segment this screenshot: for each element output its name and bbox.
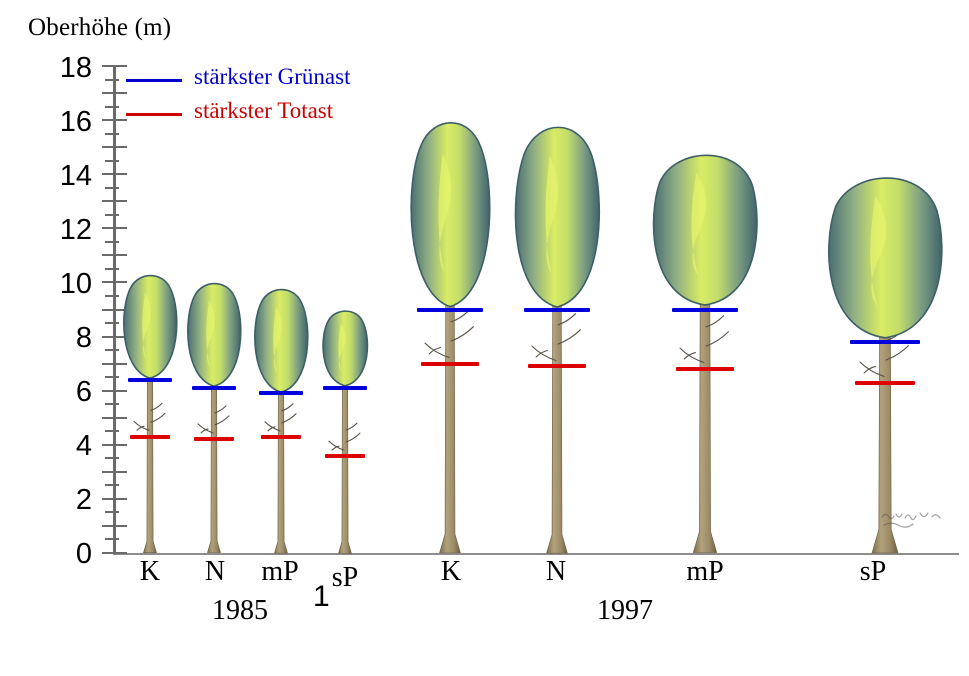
tree-crown <box>654 156 757 306</box>
y-axis-title: Oberhöhe (m) <box>28 14 171 42</box>
dead-branch-marker <box>194 437 234 441</box>
group-label-1985: 1985 <box>185 595 295 627</box>
dead-branch-marker <box>261 435 301 439</box>
legend-label-gruenast: stärkster Grünast <box>194 64 351 90</box>
tree-crown <box>124 276 177 379</box>
dead-branch-marker <box>528 364 586 368</box>
green-branch-marker <box>672 308 738 312</box>
tree-N-1997 <box>499 123 615 553</box>
tree-crown <box>411 123 490 307</box>
y-tick-label-6: 6 <box>30 378 92 407</box>
legend-label-totast: stärkster Totast <box>194 98 333 124</box>
green-branch-marker <box>323 386 367 390</box>
green-branch-marker <box>850 340 920 344</box>
y-tick-label-18: 18 <box>30 54 92 83</box>
legend-swatch-blue <box>126 79 182 82</box>
tree-mP-1997 <box>639 144 771 553</box>
tree-K-1997 <box>392 120 508 553</box>
dead-branch-marker <box>676 367 734 371</box>
x-tick-label-1985-mp: mP <box>247 556 313 588</box>
x-tick-label-1985-k: K <box>120 556 180 588</box>
group-label-1997: 1997 <box>560 595 690 627</box>
green-branch-marker <box>128 378 172 382</box>
x-tick-label-1997-mp: mP <box>665 556 745 588</box>
green-branch-marker <box>192 386 236 390</box>
x-tick-label-1997-k: K <box>418 556 484 588</box>
tree-sP-1985 <box>307 310 383 554</box>
x-axis-baseline <box>113 553 959 555</box>
green-branch-marker <box>524 308 590 312</box>
y-tick-label-8: 8 <box>30 324 92 353</box>
y-tick-label-2: 2 <box>30 486 92 515</box>
y-tick-label-16: 16 <box>30 108 92 137</box>
tree-sP-1997 <box>814 166 956 553</box>
y-tick-label-12: 12 <box>30 216 92 245</box>
dead-branch-marker <box>421 362 479 366</box>
y-tick-label-4: 4 <box>30 432 92 461</box>
stray-annotation-1: 1 <box>313 580 330 614</box>
green-branch-marker <box>259 391 303 395</box>
tree-crown <box>255 289 308 392</box>
dead-branch-marker <box>130 435 170 439</box>
chart-canvas: Oberhöhe (m) 18 16 14 12 10 8 6 4 2 0 st… <box>0 0 969 676</box>
x-tick-label-1997-n: N <box>523 556 589 588</box>
y-tick-label-10: 10 <box>30 270 92 299</box>
x-tick-label-1985-n: N <box>185 556 245 588</box>
legend-swatch-red <box>126 113 182 116</box>
y-tick-label-0: 0 <box>30 540 92 569</box>
y-tick-label-14: 14 <box>30 162 92 191</box>
dead-branch-marker <box>855 381 915 385</box>
tree-crown <box>829 178 942 338</box>
dead-branch-marker <box>325 454 365 458</box>
green-branch-marker <box>417 308 483 312</box>
tree-crown <box>323 311 367 386</box>
tree-crown <box>516 127 600 307</box>
x-tick-label-1997-sp: sP <box>838 556 908 588</box>
artist-signature-icon <box>880 508 950 530</box>
tree-crown <box>188 284 241 387</box>
